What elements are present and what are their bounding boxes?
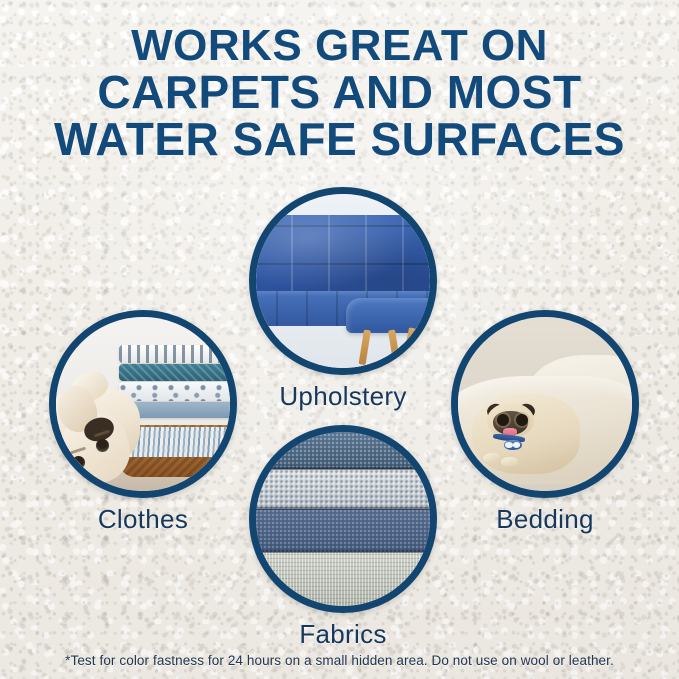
fabrics-caption: Fabrics (249, 619, 437, 650)
headline: WORKS GREAT ON CARPETS AND MOST WATER SA… (0, 22, 679, 163)
fabrics-photo (256, 432, 430, 606)
dog-eye (72, 456, 85, 469)
clothes-photo-ring (49, 310, 237, 498)
linen-weave-pattern (119, 364, 230, 381)
fabric-swatch-light-gray (256, 469, 430, 511)
fabric-swatch-dark-blue (256, 432, 430, 470)
fabric-weave-texture (256, 469, 430, 511)
headline-line-3: WATER SAFE SURFACES (0, 116, 679, 163)
footnote-disclaimer: *Test for color fastness for 24 hours on… (0, 653, 679, 668)
pug-paw (501, 456, 519, 466)
bedding-photo (458, 317, 632, 491)
fabrics-photo-ring (249, 425, 437, 613)
fabric-swatch-blue (256, 509, 430, 554)
fabric-swatch-sage-gray (256, 552, 430, 606)
clothes-caption: Clothes (49, 504, 237, 535)
bedding-photo-ring (451, 310, 639, 498)
badge-bedding: Bedding (451, 310, 639, 535)
clothes-photo (56, 317, 230, 491)
headline-line-2: CARPETS AND MOST (0, 69, 679, 116)
promo-poster: WORKS GREAT ON CARPETS AND MOST WATER SA… (0, 0, 679, 679)
badge-clothes: Clothes (49, 310, 237, 535)
fabric-weave-texture (256, 552, 430, 606)
fabric-fold-edge (256, 467, 430, 470)
upholstery-photo (256, 194, 430, 368)
fabric-weave-texture (256, 509, 430, 554)
fabric-fold-edge (256, 507, 430, 510)
linen-stripe-pattern (119, 345, 230, 363)
fabric-fold-edge (256, 550, 430, 553)
dog-eye (96, 439, 109, 452)
headline-line-1: WORKS GREAT ON (0, 22, 679, 69)
pug-paw (482, 451, 500, 462)
pug-eye (497, 414, 509, 426)
bedding-caption: Bedding (451, 504, 639, 535)
upholstery-caption: Upholstery (249, 381, 437, 412)
badge-upholstery: Upholstery (249, 187, 437, 412)
linen-striped (119, 345, 230, 363)
fabric-weave-texture (256, 432, 430, 470)
upholstery-photo-ring (249, 187, 437, 375)
linen-teal (119, 364, 230, 381)
bone-tag-icon (504, 440, 521, 450)
linen-dot-pattern (119, 382, 230, 400)
linen-patterned (119, 382, 230, 400)
sofa-armrest (346, 298, 430, 333)
badge-fabrics: Fabrics (249, 425, 437, 650)
pug-body (472, 394, 580, 474)
